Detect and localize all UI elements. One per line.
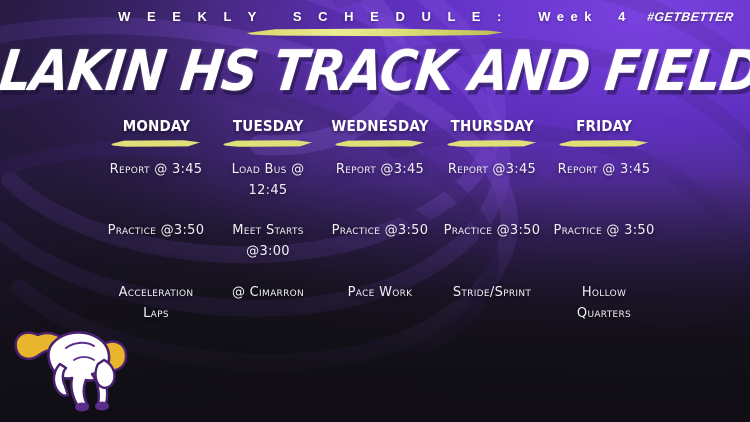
- schedule-cell: Practice @ 3:50: [548, 211, 660, 274]
- schedule-cell: Report @ 3:45: [548, 148, 660, 211]
- day-column-friday: FRIDAY Report @ 3:45 Practice @ 3:50 Hol…: [548, 118, 660, 334]
- schedule-cell: Report @ 3:45: [100, 148, 212, 211]
- schedule-cell: Pace Work: [324, 274, 436, 334]
- cell-line: 12:45: [232, 180, 305, 201]
- cell-line: Report @ 3:45: [110, 159, 203, 180]
- cell-line: Report @3:45: [448, 159, 536, 180]
- day-brush-underline: [222, 139, 314, 148]
- schedule-poster: W E E K L Y S C H E D U L E : Week 4 #GE…: [0, 0, 750, 422]
- cell-line: Pace Work: [348, 282, 413, 303]
- cell-line: @ Cimarron: [232, 282, 304, 303]
- day-cells-thursday: Report @3:45 Practice @3:50 Stride/Sprin…: [436, 148, 548, 334]
- cell-line: Practice @3:50: [332, 220, 429, 241]
- mascot-hoof: [75, 403, 89, 412]
- cell-line: Hollow: [577, 282, 631, 303]
- cell-line: Meet Starts: [232, 220, 304, 241]
- cell-line: Load Bus @: [232, 159, 305, 180]
- day-header-monday: MONDAY: [122, 118, 189, 135]
- cell-line: Acceleration: [119, 282, 194, 303]
- kicker-text: W E E K L Y S C H E D U L E : Week 4: [0, 9, 750, 24]
- day-brush-underline: [558, 139, 650, 148]
- day-header-thursday: THURSDAY: [450, 118, 533, 135]
- schedule-cell: Practice @3:50: [100, 211, 212, 274]
- schedule-cell: Stride/Sprint: [436, 274, 548, 334]
- schedule-cell: Meet Starts @3:00: [212, 211, 324, 274]
- hashtag-text: #GETBETTER: [646, 10, 735, 24]
- schedule-cell: Load Bus @ 12:45: [212, 148, 324, 211]
- cell-line: Practice @ 3:50: [553, 220, 654, 241]
- day-column-tuesday: TUESDAY Load Bus @ 12:45 Meet Starts @3:…: [212, 118, 324, 334]
- day-brush-underline: [334, 139, 426, 148]
- bucking-bronco-logo: [8, 302, 138, 414]
- day-cells-friday: Report @ 3:45 Practice @ 3:50 Hollow Qua…: [548, 148, 660, 334]
- kicker-brush-underline: [245, 27, 505, 38]
- schedule-cell: Practice @3:50: [436, 211, 548, 274]
- day-brush-underline: [110, 139, 202, 148]
- day-brush-underline: [446, 139, 538, 148]
- day-cells-wednesday: Report @3:45 Practice @3:50 Pace Work: [324, 148, 436, 334]
- day-header-tuesday: TUESDAY: [233, 118, 304, 135]
- schedule-cell: @ Cimarron: [212, 274, 324, 334]
- cell-line: Practice @3:50: [444, 220, 541, 241]
- schedule-cell: Report @3:45: [436, 148, 548, 211]
- schedule-cell: Practice @3:50: [324, 211, 436, 274]
- mascot-front-leg: [54, 364, 68, 396]
- day-header-friday: FRIDAY: [576, 118, 632, 135]
- schedule-grid: MONDAY Report @ 3:45 Practice @3:50 Acce…: [100, 118, 660, 334]
- day-column-thursday: THURSDAY Report @3:45 Practice @3:50 Str…: [436, 118, 548, 334]
- day-header-wednesday: WEDNESDAY: [331, 118, 428, 135]
- schedule-cell: Report @3:45: [324, 148, 436, 211]
- cell-line: Stride/Sprint: [453, 282, 531, 303]
- cell-line: Report @ 3:45: [558, 159, 651, 180]
- mascot-hoof: [95, 402, 109, 411]
- cell-line: @3:00: [232, 241, 304, 262]
- cell-line: Practice @3:50: [108, 220, 205, 241]
- cell-line: Quarters: [577, 303, 631, 324]
- day-cells-tuesday: Load Bus @ 12:45 Meet Starts @3:00 @ Cim…: [212, 148, 324, 334]
- cell-line: Report @3:45: [336, 159, 424, 180]
- page-title: LAKIN HS TRACK AND FIELD: [0, 41, 750, 101]
- schedule-cell: Hollow Quarters: [548, 274, 660, 334]
- day-column-wednesday: WEDNESDAY Report @3:45 Practice @3:50 Pa…: [324, 118, 436, 334]
